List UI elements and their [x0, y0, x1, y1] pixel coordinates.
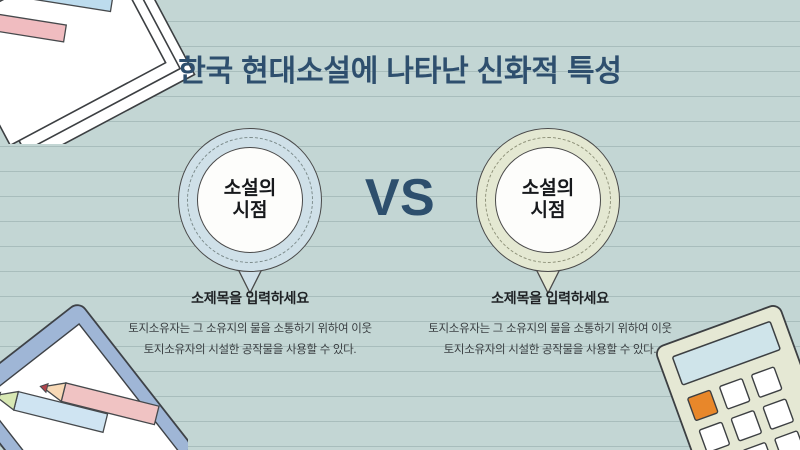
- badge-right[interactable]: 소설의 시점: [476, 128, 620, 272]
- vs-label: VS: [350, 168, 450, 228]
- text-column-left: 소제목을 입력하세요 토지소유자는 그 소유지의 물을 소통하기 위하여 이웃 …: [90, 288, 410, 362]
- page-title: 한국 현대소설에 나타난 신화적 특성: [0, 46, 800, 90]
- subtitle-right: 소제목을 입력하세요: [390, 288, 710, 308]
- slide-canvas: 한국 현대소설에 나타난 신화적 특성 소설의 시점 VS 소설의 시점: [0, 0, 800, 450]
- badge-right-core: 소설의 시점: [495, 147, 601, 253]
- badge-right-label: 소설의 시점: [522, 178, 574, 223]
- body-left: 토지소유자는 그 소유지의 물을 소통하기 위하여 이웃 토지소유자의 시설한 …: [90, 319, 410, 362]
- text-column-right: 소제목을 입력하세요 토지소유자는 그 소유지의 물을 소통하기 위하여 이웃 …: [390, 288, 710, 362]
- badge-left[interactable]: 소설의 시점: [178, 128, 322, 272]
- badge-left-label: 소설의 시점: [224, 178, 276, 223]
- body-right: 토지소유자는 그 소유지의 물을 소통하기 위하여 이웃 토지소유자의 시설한 …: [390, 319, 710, 362]
- subtitle-left: 소제목을 입력하세요: [90, 288, 410, 308]
- comparison-row: 소설의 시점 VS 소설의 시점: [0, 128, 800, 288]
- badge-left-core: 소설의 시점: [197, 147, 303, 253]
